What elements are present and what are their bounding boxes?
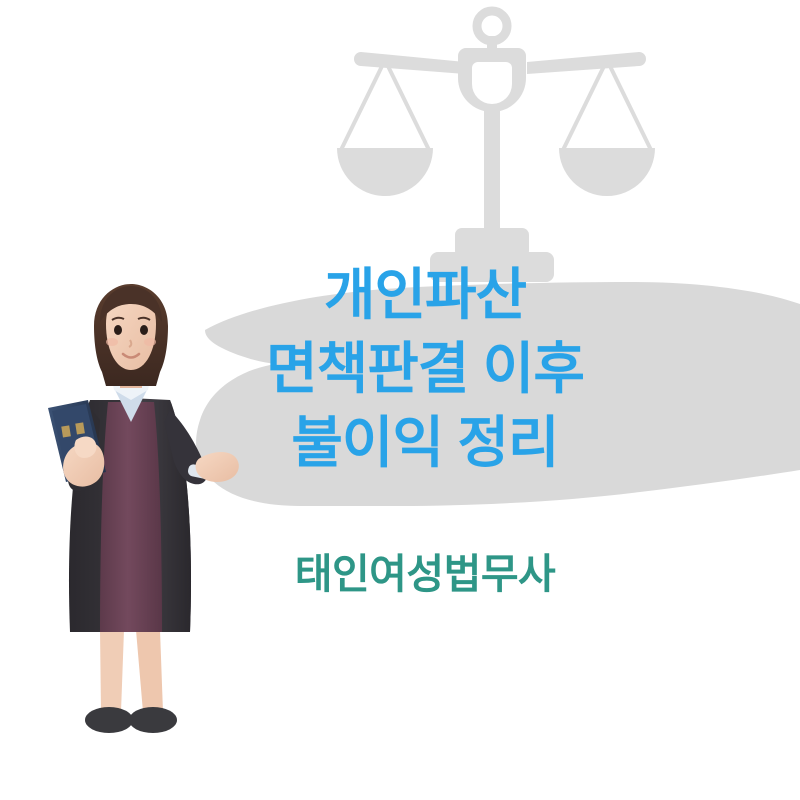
- brand-subtitle: 태인여성법무사: [190, 548, 660, 600]
- right-eye: [140, 325, 148, 335]
- headline: 개인파산 면책판결 이후 불이익 정리: [190, 258, 660, 480]
- headline-line-1: 개인파산: [190, 258, 660, 332]
- left-eye: [114, 325, 122, 335]
- headline-line-2: 면책판결 이후: [190, 332, 660, 406]
- head: [94, 284, 168, 386]
- legs: [100, 630, 163, 712]
- poster-canvas: 개인파산 면책판결 이후 불이익 정리 태인여성법무사: [0, 0, 800, 800]
- shoes: [85, 707, 177, 733]
- headline-line-3: 불이익 정리: [190, 406, 660, 480]
- scales-of-justice-icon: [337, 11, 655, 282]
